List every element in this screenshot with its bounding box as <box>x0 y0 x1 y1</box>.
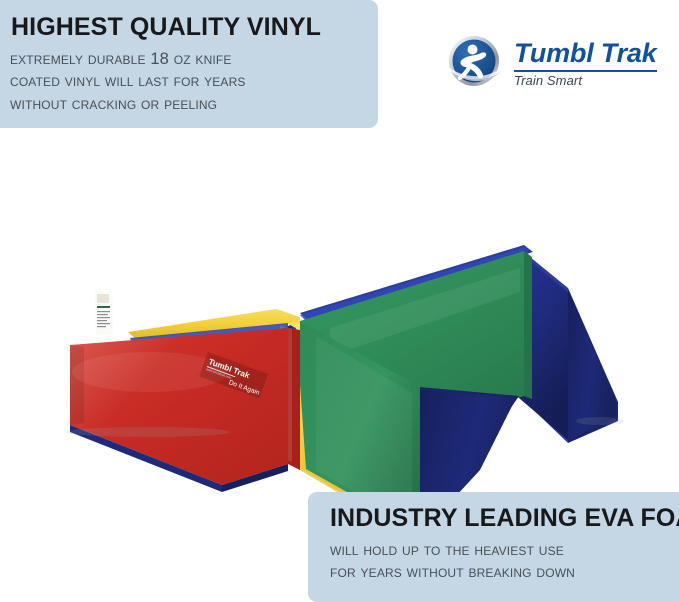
logo-wordmark: Tumbl Trak <box>514 40 657 67</box>
brand-logo: Tumbl Trak Train Smart <box>443 31 669 93</box>
caption-box-bottom: INDUSTRY LEADING EVA FOAM Will hold up t… <box>308 492 679 602</box>
caption-top-line-2: coated vinyl will last for years <box>10 70 378 93</box>
caption-top-heading: HIGHEST QUALITY VINYL <box>11 14 378 41</box>
caption-top-line-1: Extremely durable 18 oz knife <box>10 48 378 71</box>
sewn-care-tag <box>95 289 113 335</box>
mat-panel-blue-valley <box>420 387 519 500</box>
mat-panel-red-front <box>70 326 300 492</box>
logo-wordmark-group: Tumbl Trak Train Smart <box>514 38 657 87</box>
caption-bottom-line-2: for years without breaking down <box>330 561 679 584</box>
mat-panel-blue-back <box>519 248 618 443</box>
product-image-canvas: Tumbl Trak www.tumbltrak.com Do It Again… <box>0 0 679 590</box>
caption-box-top: HIGHEST QUALITY VINYL Extremely durable … <box>0 0 378 128</box>
caption-top-body: Extremely durable 18 oz knife coated vin… <box>10 48 378 116</box>
logo-underline-rule <box>514 70 657 72</box>
caption-bottom-heading: INDUSTRY LEADING EVA FOAM <box>330 505 679 532</box>
product-photo: Tumbl Trak www.tumbltrak.com Do It Again <box>0 140 679 500</box>
caption-bottom-body: Will hold up to the heaviest use for yea… <box>330 539 679 584</box>
tumbl-trak-emblem-icon <box>443 31 505 93</box>
caption-top-line-3: without cracking or peeling <box>10 93 378 116</box>
logo-tagline: Train Smart <box>514 74 657 87</box>
caption-bottom-line-1: Will hold up to the heaviest use <box>330 539 679 562</box>
